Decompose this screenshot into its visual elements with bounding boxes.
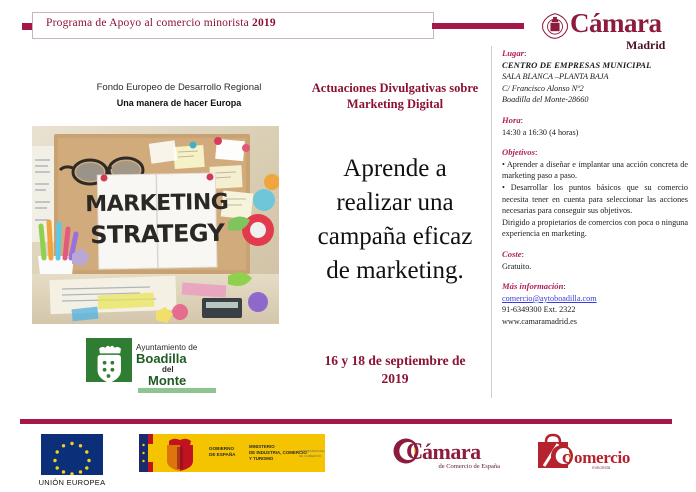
feder-line-2: Una manera de hacer Europa: [60, 98, 298, 108]
camara-footer-initial: C: [406, 439, 423, 465]
lugar-label-row: Lugar:: [502, 48, 688, 60]
camara-espana-footer-logo: C ámara de Comercio de España: [392, 434, 504, 474]
boadilla-line2: Boadilla: [136, 351, 187, 366]
european-union-caption: UNIÓN EUROPEA: [27, 478, 117, 487]
camara-wordmark-text: ámara: [589, 8, 661, 38]
objetivos-colon: :: [535, 147, 537, 157]
lugar-street: C/ Francisco Alonso Nº2: [502, 83, 688, 95]
mas-info-label: Más información: [502, 281, 563, 291]
vertical-divider: [491, 46, 492, 398]
ministerio-line3: Y TURISMO: [249, 456, 274, 461]
claim-line-1: Aprende a: [284, 152, 506, 186]
coste-value: Gratuito.: [502, 261, 688, 273]
program-title-year: 2019: [252, 17, 276, 29]
event-dates-line2: 2019: [284, 370, 506, 388]
objetivos-audience: Dirigido a propietarios de comercios con…: [502, 217, 688, 240]
objetivos-label: Objetivos: [502, 147, 535, 157]
boadilla-line4: Monte: [148, 373, 186, 388]
claim-line-4: de marketing.: [284, 254, 506, 288]
lugar-city: Boadilla del Monte-28660: [502, 94, 688, 106]
mas-info-colon: :: [563, 281, 565, 291]
camara-footer-sub: de Comercio de España: [438, 463, 500, 470]
boadilla-ayuntamiento-logo: Ayuntamiento de Boadilla del Monte: [86, 338, 226, 394]
header-accent-line: [432, 23, 524, 29]
camara-initial-c: C: [570, 8, 589, 38]
info-block-hora: Hora: 14:30 a 16:30 (4 horas): [502, 115, 688, 138]
event-dates: 16 y 18 de septiembre de 2019: [284, 352, 506, 388]
lugar-colon: :: [524, 48, 526, 58]
coste-label: Coste: [502, 249, 522, 259]
contact-website: www.camaramadrid.es: [502, 316, 688, 328]
coste-colon: :: [522, 249, 524, 259]
hora-label-row: Hora:: [502, 115, 688, 127]
objetivos-label-row: Objetivos:: [502, 147, 688, 159]
secretaria-line1: SECRETARÍA DE ESTADO: [299, 449, 325, 453]
hora-colon: :: [521, 115, 523, 125]
comercio-sub: minorista: [592, 465, 611, 470]
svg-text:MARKETING: MARKETING: [85, 190, 229, 217]
main-claim: Aprende a realizar una campaña eficaz de…: [284, 152, 506, 288]
event-dates-line1: 16 y 18 de septiembre de: [284, 352, 506, 370]
footer-accent-line: [20, 419, 672, 424]
claim-line-2: realizar una: [284, 186, 506, 220]
contact-phone: 91-6349300 Ext. 2322: [502, 304, 688, 316]
camara-footer-name: ámara: [422, 439, 481, 464]
lugar-venue: CENTRO DE EMPRESAS MUNICIPAL: [502, 60, 688, 72]
feder-line-1: Fondo Europeo de Desarrollo Regional: [60, 82, 298, 93]
info-block-coste: Coste: Gratuito.: [502, 249, 688, 272]
contact-email-link[interactable]: comercio@aytoboadilla.com: [502, 294, 597, 303]
ministerio-line1: MINISTERIO: [249, 444, 275, 449]
comercio-minorista-logo: c omercio minorista: [532, 430, 644, 476]
marketing-strategy-photo: MARKETING STRATEGY: [32, 126, 279, 324]
coste-label-row: Coste:: [502, 249, 688, 261]
activity-title-line1: Actuaciones Divulgativas sobre: [292, 80, 498, 96]
lugar-label: Lugar: [502, 48, 524, 58]
svg-text:STRATEGY: STRATEGY: [90, 219, 226, 249]
objetivo-item-2: • Desarrollar los puntos básicos que su …: [502, 182, 688, 217]
gobierno-line2: DE ESPAÑA: [209, 451, 236, 457]
secretaria-line2: DE COMERCIO: [299, 454, 322, 458]
info-block-lugar: Lugar: CENTRO DE EMPRESAS MUNICIPAL SALA…: [502, 48, 688, 106]
gobierno-line1: GOBIERNO: [209, 446, 234, 451]
hora-label: Hora: [502, 115, 521, 125]
camara-seal-icon: [542, 13, 568, 39]
program-title-text: Programa de Apoyo al comercio minorista: [46, 17, 252, 29]
lugar-room: SALA BLANCA –PLANTA BAJA: [502, 71, 688, 83]
info-block-objetivos: Objetivos: • Aprender a diseñar e implan…: [502, 147, 688, 240]
info-block-contacto: Más información: comercio@aytoboadilla.c…: [502, 281, 688, 327]
program-title: Programa de Apoyo al comercio minorista …: [46, 17, 426, 29]
european-union-flag: [41, 434, 103, 475]
event-info-panel: Lugar: CENTRO DE EMPRESAS MUNICIPAL SALA…: [502, 48, 688, 327]
gobierno-ministerio-logo: GOBIERNO DE ESPAÑA MINISTERIO DE INDUSTR…: [139, 434, 325, 472]
hora-value: 14:30 a 16:30 (4 horas): [502, 127, 688, 139]
comercio-initial: c: [562, 447, 570, 468]
activity-title: Actuaciones Divulgativas sobre Marketing…: [292, 80, 498, 112]
mas-info-label-row: Más información:: [502, 281, 688, 293]
camara-wordmark: Cámara: [570, 8, 661, 38]
claim-line-3: campaña eficaz: [284, 220, 506, 254]
activity-title-line2: Marketing Digital: [292, 96, 498, 112]
objetivo-item-1: • Aprender a diseñar e implantar una acc…: [502, 159, 688, 182]
poster-canvas: Programa de Apoyo al comercio minorista …: [0, 0, 696, 492]
